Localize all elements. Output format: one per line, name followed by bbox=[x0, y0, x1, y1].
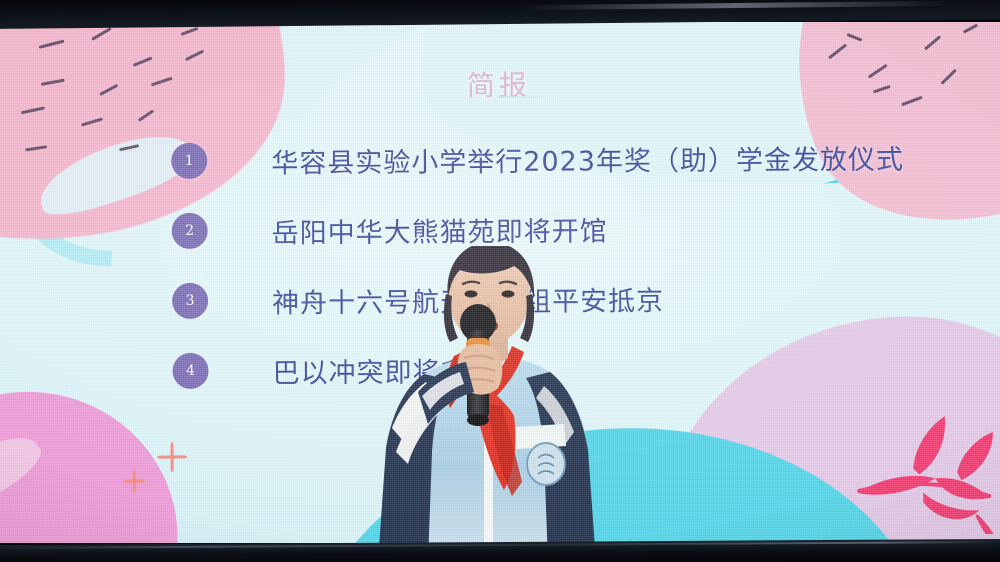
list-item-label: 华容县实验小学举行2023年奖（助）学金发放仪式 bbox=[271, 137, 904, 180]
list-item[interactable]: 1 华容县实验小学举行2023年奖（助）学金发放仪式 bbox=[171, 121, 961, 196]
photo-frame: 简报 1 华容县实验小学举行2023年奖（助）学金发放仪式 2 岳阳中华大熊猫苑… bbox=[0, 0, 1000, 562]
list-item-label: 岳阳中华大熊猫苑即将开馆 bbox=[272, 209, 608, 250]
title-underline bbox=[497, 96, 567, 98]
leaf-branch-icon bbox=[849, 406, 1000, 535]
slide-title: 简报 bbox=[0, 61, 1000, 107]
sparkle-icon bbox=[157, 442, 187, 472]
sparkle-icon bbox=[123, 470, 145, 492]
presenter-figure bbox=[366, 246, 610, 562]
list-item-badge: 2 bbox=[172, 213, 208, 249]
list-item-badge: 4 bbox=[172, 353, 208, 389]
list-item-badge: 3 bbox=[172, 283, 208, 319]
list-item-badge: 1 bbox=[171, 143, 207, 179]
